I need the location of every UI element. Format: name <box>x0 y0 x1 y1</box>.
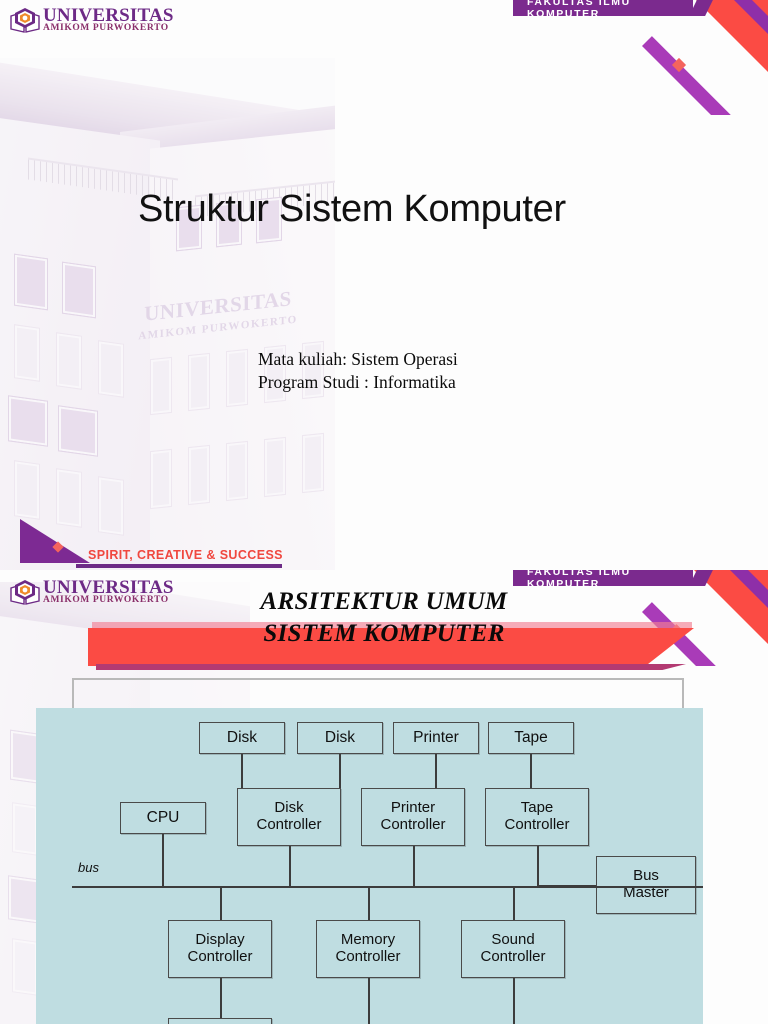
node-label: MemoryController <box>335 932 400 966</box>
node-label: Printer <box>413 729 459 746</box>
node-label-line2: Controller <box>256 816 321 833</box>
photo-window <box>226 441 248 501</box>
photo-window <box>264 437 286 497</box>
amikom-book-logo-icon <box>10 578 40 606</box>
heading-band-highlight <box>92 622 692 628</box>
node-label-line2: Controller <box>504 816 569 833</box>
subtitle-program: Program Studi : Informatika <box>258 371 678 394</box>
diagram-node-cutoff <box>168 1018 272 1024</box>
stripe-red-light <box>762 570 768 666</box>
amikom-book-logo-icon <box>10 6 40 34</box>
diagram-node-sound-controller: SoundController <box>461 920 565 978</box>
photo-window <box>56 332 82 390</box>
subtitle-course: Mata kuliah: Sistem Operasi <box>258 348 678 371</box>
node-label-line1: Sound <box>491 931 534 948</box>
node-label-line2: Controller <box>480 948 545 965</box>
stripe-accent-dot <box>672 58 686 72</box>
diagram-node-tape-controller: TapeController <box>485 788 589 846</box>
diagram-node-memory-controller: MemoryController <box>316 920 420 978</box>
diagram-node-bus-master: BusMaster <box>596 856 696 914</box>
node-label: PrinterController <box>380 800 445 834</box>
tagline-underline <box>76 564 282 568</box>
photo-window <box>14 254 48 311</box>
heading-band-shadow <box>96 664 686 670</box>
stripe-red <box>720 570 768 666</box>
node-label: Disk <box>227 729 257 746</box>
photo-window <box>98 476 124 536</box>
diagram-wire <box>537 885 596 887</box>
diagram-node-printer-controller: PrinterController <box>361 788 465 846</box>
logo-line2: AMIKOM PURWOKERTO <box>43 24 174 34</box>
photo-window <box>302 433 324 493</box>
diagram-wire <box>339 754 341 788</box>
diagram-wire <box>513 886 515 920</box>
faculty-banner-label: FAKULTAS ILMU KOMPUTER <box>527 570 683 590</box>
node-label: DisplayController <box>187 932 252 966</box>
photo-window <box>14 460 40 520</box>
stripe-red <box>722 0 768 115</box>
node-label: Disk <box>325 729 355 746</box>
slide-subtitle: Mata kuliah: Sistem Operasi Program Stud… <box>258 348 678 395</box>
photo-window <box>12 802 38 856</box>
slide-architecture: FAKULTAS ILMU KOMPUTER UNIVERSITAS AMIKO… <box>0 570 768 1024</box>
photo-window <box>188 353 210 411</box>
university-logo-text: UNIVERSITAS AMIKOM PURWOKERTO <box>43 578 174 606</box>
diagram-bus-line <box>72 886 703 888</box>
computer-architecture-diagram: Disk Disk Printer Tape CPU DiskControlle… <box>36 708 703 1024</box>
stripe-red-light <box>764 0 768 115</box>
photo-window <box>150 449 172 509</box>
node-label-line1: Printer <box>391 799 435 816</box>
logo-line2: AMIKOM PURWOKERTO <box>43 596 174 606</box>
diagram-wire <box>162 834 164 886</box>
stripe-purple <box>702 570 768 666</box>
node-label: CPU <box>147 809 180 826</box>
faculty-banner-label: FAKULTAS ILMU KOMPUTER <box>527 0 683 20</box>
diagram-wire <box>368 978 370 1024</box>
node-label: SoundController <box>480 932 545 966</box>
diagram-node-tape: Tape <box>488 722 574 754</box>
stripe-violet <box>642 36 737 115</box>
stripe-purple <box>704 0 768 115</box>
slide-title: UNIVERSITAS AMIKOM PURWOKERTO FAK <box>0 0 768 570</box>
presentation-deck: UNIVERSITAS AMIKOM PURWOKERTO FAK <box>0 0 768 1024</box>
diagram-node-disk-controller: DiskController <box>237 788 341 846</box>
university-logo-text: UNIVERSITAS AMIKOM PURWOKERTO <box>43 6 174 34</box>
slide-title-text: Struktur Sistem Komputer <box>138 188 658 231</box>
node-label: BusMaster <box>623 868 669 902</box>
node-label-line2: Controller <box>335 948 400 965</box>
diagram-wire <box>513 978 515 1024</box>
faculty-banner: FAKULTAS ILMU KOMPUTER <box>513 570 693 586</box>
diagram-node-disk-2: Disk <box>297 722 383 754</box>
node-label-line1: Display <box>195 931 244 948</box>
diagram-wire <box>530 754 532 788</box>
photo-window <box>226 349 248 407</box>
photo-window <box>62 262 96 319</box>
photo-window <box>56 468 82 528</box>
diagram-bus-label: bus <box>78 860 99 875</box>
university-logo: UNIVERSITAS AMIKOM PURWOKERTO <box>10 578 174 606</box>
node-label-line1: Bus <box>633 867 659 884</box>
photo-window <box>150 357 172 415</box>
photo-window <box>58 405 98 457</box>
heading-band-red <box>88 628 694 666</box>
photo-window <box>188 445 210 505</box>
node-label-line1: Disk <box>274 799 303 816</box>
photo-window <box>12 938 38 996</box>
stripe-purple-dark <box>748 570 768 666</box>
photo-window <box>98 340 124 398</box>
stripe-red <box>674 0 768 115</box>
diagram-node-display-controller: DisplayController <box>168 920 272 978</box>
diagram-wire <box>435 754 437 788</box>
photo-window <box>8 395 48 447</box>
node-label-line1: Tape <box>521 799 554 816</box>
diagram-wire <box>537 846 539 886</box>
diagram-wire <box>241 754 243 788</box>
stripe-purple-dark <box>750 0 768 115</box>
diagram-wire <box>413 846 415 886</box>
node-label: TapeController <box>504 800 569 834</box>
node-label-line1: Memory <box>341 931 395 948</box>
tagline-text: SPIRIT, CREATIVE & SUCCESS <box>88 548 283 562</box>
node-label-line2: Controller <box>187 948 252 965</box>
diagram-node-printer: Printer <box>393 722 479 754</box>
faculty-banner: FAKULTAS ILMU KOMPUTER <box>513 0 693 16</box>
diagram-wire <box>289 846 291 886</box>
node-label-line2: Controller <box>380 816 445 833</box>
diagram-wire <box>220 978 222 1020</box>
node-label: Tape <box>514 729 548 746</box>
photo-window <box>14 324 40 382</box>
diagram-node-cpu: CPU <box>120 802 206 834</box>
diagram-node-disk-1: Disk <box>199 722 285 754</box>
diagram-wire <box>368 886 370 920</box>
diagram-wire <box>220 886 222 920</box>
campus-building-photo: UNIVERSITAS AMIKOM PURWOKERTO <box>0 58 335 570</box>
university-logo: UNIVERSITAS AMIKOM PURWOKERTO <box>10 6 174 34</box>
node-label: DiskController <box>256 800 321 834</box>
